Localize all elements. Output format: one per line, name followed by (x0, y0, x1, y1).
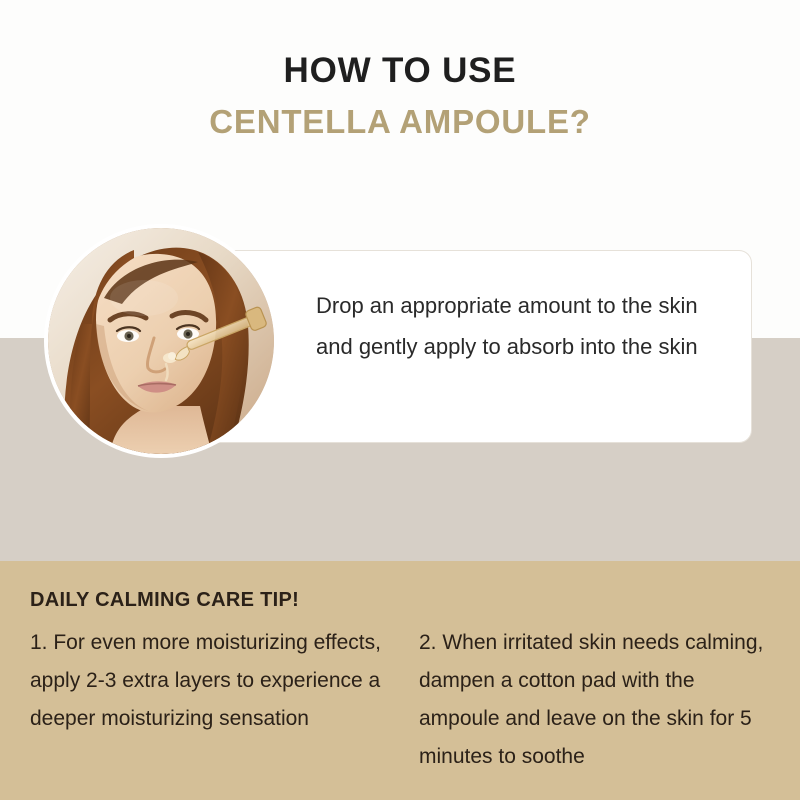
tip-item-1: 1. For even more moisturizing effects, a… (30, 624, 385, 776)
product-usage-photo (48, 228, 274, 454)
tip-item-2: 2. When irritated skin needs calming, da… (419, 624, 779, 776)
instruction-text: Drop an appropriate amount to the skin a… (316, 285, 736, 367)
infographic-page: HOW TO USE CENTELLA AMPOULE? Drop an app… (0, 0, 800, 800)
page-title-secondary: CENTELLA AMPOULE? (0, 102, 800, 142)
portrait-illustration (48, 228, 274, 454)
page-header: HOW TO USE CENTELLA AMPOULE? (0, 50, 800, 142)
photo-image (48, 228, 274, 454)
tips-heading: DAILY CALMING CARE TIP! (30, 589, 299, 612)
page-title-primary: HOW TO USE (0, 50, 800, 93)
tips-columns: 1. For even more moisturizing effects, a… (30, 624, 785, 776)
